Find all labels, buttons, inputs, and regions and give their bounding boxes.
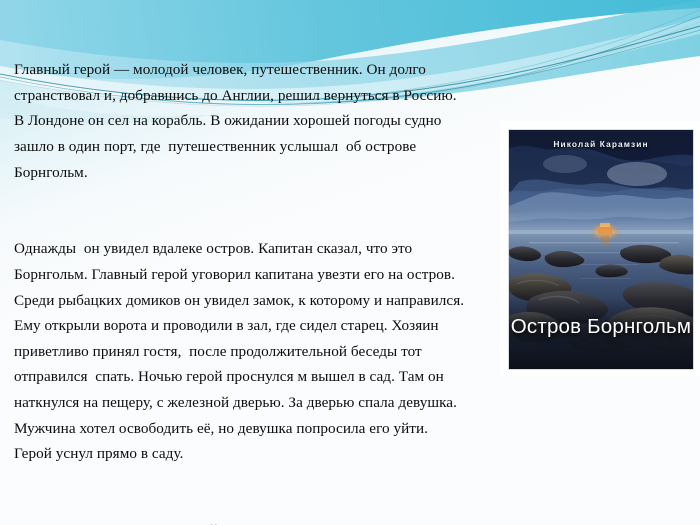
book-author-label: Николай Карамзин xyxy=(509,139,693,149)
paragraph-2: Однажды он увидел вдалеке остров. Капита… xyxy=(14,236,466,466)
slide-body-text: Главный герой — молодой человек, путешес… xyxy=(14,6,466,525)
paragraph-3: Утром явился хозяин со слугой. Слуга утв… xyxy=(14,518,466,525)
book-title-label: Остров Борнгольм xyxy=(509,315,693,339)
presentation-slide: Главный герой — молодой человек, путешес… xyxy=(0,0,700,525)
paragraph-1: Главный герой — молодой человек, путешес… xyxy=(14,57,466,185)
book-cover-image: Николай Карамзин Остров Борнгольм xyxy=(508,129,694,370)
book-cover-figure: Николай Карамзин Остров Борнгольм xyxy=(500,121,700,376)
